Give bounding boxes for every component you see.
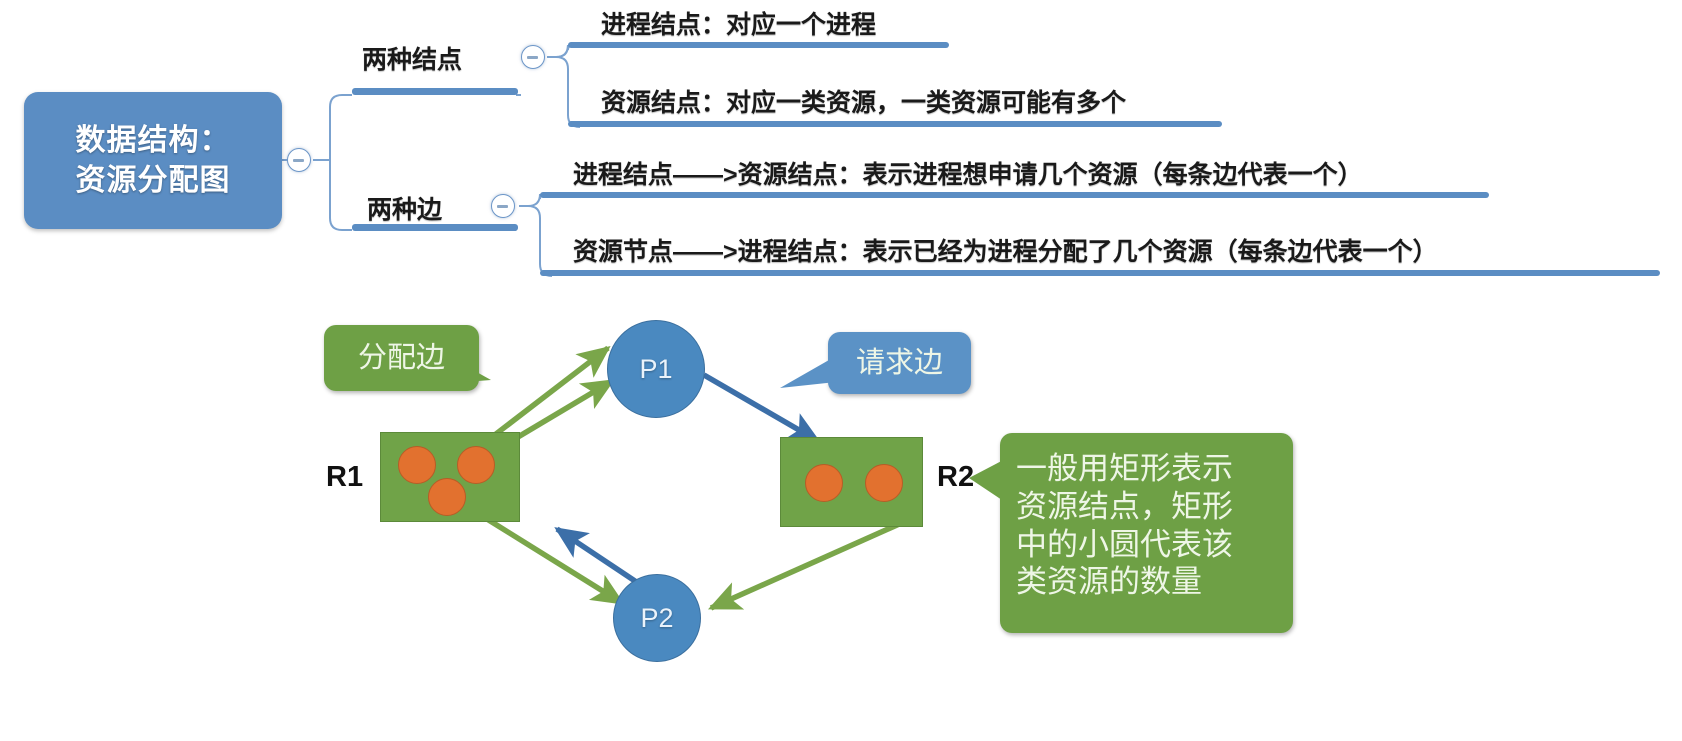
note-line-2: 资源结点，矩形 bbox=[1016, 489, 1277, 527]
leaf-label-process-node[interactable]: 进程结点：对应一个进程 bbox=[601, 5, 876, 41]
leaf-label-resource-node[interactable]: 资源结点：对应一类资源，一类资源可能有多个 bbox=[601, 83, 1126, 119]
resource-unit-dot bbox=[428, 478, 466, 516]
callout-request-edge-tail bbox=[778, 352, 848, 402]
leaf-label-request-edge[interactable]: 进程结点——>资源结点：表示进程想申请几个资源（每条边代表一个） bbox=[573, 155, 1363, 191]
callout-request-edge-label: 请求边 bbox=[828, 345, 971, 380]
note-line-4: 类资源的数量 bbox=[1016, 564, 1277, 602]
callout-resource-note[interactable]: 一般用矩形表示 资源结点，矩形 中的小圆代表该 类资源的数量 bbox=[1000, 433, 1293, 633]
resource-unit-dot bbox=[398, 446, 436, 484]
leaf-underline-resource-node bbox=[568, 121, 1222, 127]
resource-node-r1[interactable] bbox=[380, 432, 520, 522]
resource-unit-dot bbox=[865, 464, 903, 502]
root-title-line1: 数据结构： bbox=[76, 121, 231, 161]
resource-node-r2[interactable] bbox=[780, 437, 923, 527]
root-title-line2: 资源分配图 bbox=[76, 161, 231, 201]
callout-request-edge[interactable]: 请求边 bbox=[828, 332, 971, 394]
resource-unit-dot bbox=[457, 446, 495, 484]
process-node-p1[interactable]: P1 bbox=[607, 320, 705, 418]
collapse-minus-icon-branch2[interactable] bbox=[491, 194, 515, 218]
process-node-p2[interactable]: P2 bbox=[613, 574, 701, 662]
collapse-minus-icon-branch1[interactable] bbox=[521, 45, 545, 69]
branch-label-node-types[interactable]: 两种结点 bbox=[362, 40, 462, 76]
leaf-label-assign-edge[interactable]: 资源节点——>进程结点：表示已经为进程分配了几个资源（每条边代表一个） bbox=[573, 232, 1438, 268]
leaf-underline-assign-edge bbox=[540, 270, 1660, 276]
node-tag-r1: R1 bbox=[326, 461, 363, 494]
leaf-underline-request-edge bbox=[540, 192, 1489, 198]
leaf-underline-process-node bbox=[568, 42, 949, 48]
collapse-minus-icon-root[interactable] bbox=[287, 148, 311, 172]
slide-canvas: 数据结构： 资源分配图 两种结点 进程结点：对应一个进程 资源结点：对应一类资源… bbox=[0, 0, 1682, 741]
callout-resource-note-text: 一般用矩形表示 资源结点，矩形 中的小圆代表该 类资源的数量 bbox=[1000, 433, 1293, 602]
callout-resource-note-tail bbox=[967, 448, 1013, 518]
branch-underline-node-types bbox=[352, 88, 518, 95]
note-line-1: 一般用矩形表示 bbox=[1016, 451, 1277, 489]
callout-assign-edge-tail bbox=[455, 360, 525, 415]
branch-label-edge-types[interactable]: 两种边 bbox=[367, 190, 442, 226]
mindmap-root-label: 数据结构： 资源分配图 bbox=[76, 121, 231, 200]
branch-underline-edge-types bbox=[352, 224, 518, 231]
note-line-3: 中的小圆代表该 bbox=[1016, 527, 1277, 565]
mindmap-root-node[interactable]: 数据结构： 资源分配图 bbox=[24, 92, 282, 229]
resource-unit-dot bbox=[805, 464, 843, 502]
